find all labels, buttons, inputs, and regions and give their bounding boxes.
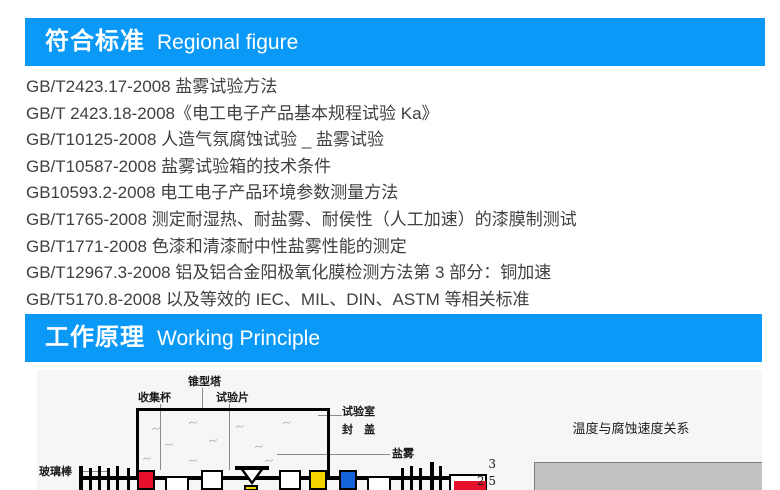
mist-mark: 〜 <box>188 419 199 430</box>
label-cone-tower: 锥型塔 <box>188 376 221 387</box>
component-box <box>367 476 391 490</box>
rod-bar <box>401 468 404 490</box>
glass-rod-bar <box>127 468 130 490</box>
standard-item: GB/T 2423.18-2008《电工电子产品基本规程试验 Ka》 <box>26 101 756 128</box>
label-test-piece: 试验片 <box>216 392 249 403</box>
standards-list: GB/T2423.17-2008 盐雾试验方法 GB/T 2423.18-200… <box>26 74 756 313</box>
component-yellow <box>309 470 327 490</box>
chart-ytick: 2.5 <box>476 475 496 487</box>
glass-rod-bar <box>98 466 101 490</box>
rod-bar <box>410 466 413 490</box>
standard-item: GB/T1765-2008 测定耐湿热、耐盐雾、耐侯性（人工加速）的漆膜制测试 <box>26 207 756 234</box>
mist-mark: 〜 <box>208 437 219 448</box>
label-test-chamber: 试验室 <box>342 406 375 417</box>
leader-line-cone-tower <box>202 388 203 410</box>
mist-mark: 〜 <box>142 455 153 466</box>
standard-item: GB/T10125-2008 人造气氛腐蚀试验 _ 盐雾试验 <box>26 127 756 154</box>
temperature-corrosion-chart: 温度与腐蚀速度关系 3 2.5 <box>500 370 762 490</box>
rod-bar <box>430 462 434 490</box>
component-red <box>137 470 155 490</box>
section-title-cn: 工作原理 <box>45 326 145 350</box>
standard-item: GB10593.2-2008 电工电子产品环境参数测量方法 <box>26 180 756 207</box>
mist-mark: 〜 <box>164 441 175 452</box>
salt-spray-chamber-schematic: 锥型塔 收集杯 试验片 试验室 封 盖 盐雾 玻璃棒 〜 〜 〜 〜 〜 〜 <box>37 370 467 490</box>
section-title-en: Regional figure <box>157 32 298 53</box>
rod-bar <box>439 466 442 490</box>
mist-mark: 〜 <box>235 423 246 434</box>
chart-ytick: 3 <box>476 458 496 470</box>
section-title-cn: 符合标准 <box>45 30 145 54</box>
cone-tower-funnel-inner <box>244 470 260 481</box>
cone-tower-funnel <box>241 470 263 485</box>
mist-mark: 〜 <box>282 419 293 430</box>
section-header-working-principle: 工作原理 Working Principle <box>25 314 762 362</box>
working-principle-figure: 锥型塔 收集杯 试验片 试验室 封 盖 盐雾 玻璃棒 〜 〜 〜 〜 〜 〜 <box>37 370 762 490</box>
mist-mark: 〜 <box>254 443 265 454</box>
chart-title: 温度与腐蚀速度关系 <box>500 418 762 437</box>
glass-rod-bar <box>89 468 92 490</box>
component-blue <box>339 470 357 490</box>
section-title-en: Working Principle <box>157 328 320 349</box>
section-header-regional-figure: 符合标准 Regional figure <box>25 18 765 66</box>
standard-item: GB/T10587-2008 盐雾试验箱的技术条件 <box>26 154 756 181</box>
label-salt-spray: 盐雾 <box>392 448 414 459</box>
mist-mark: 〜 <box>151 425 162 436</box>
label-cover: 封 盖 <box>342 424 375 435</box>
component-box <box>201 470 223 490</box>
glass-rod-bar <box>116 466 119 490</box>
cone-tower-base <box>244 485 258 490</box>
glass-rod-bar <box>107 468 110 490</box>
rod-bar <box>419 468 422 490</box>
standard-item: GB/T5170.8-2008 以及等效的 IEC、MIL、DIN、ASTM 等… <box>26 287 756 314</box>
standard-item: GB/T2423.17-2008 盐雾试验方法 <box>26 74 756 101</box>
standard-item: GB/T1771-2008 色漆和清漆耐中性盐雾性能的测定 <box>26 234 756 261</box>
component-box <box>279 470 301 490</box>
component-box <box>165 476 189 490</box>
label-collect-cup: 收集杯 <box>138 392 171 403</box>
glass-rod-bar <box>79 466 83 490</box>
standard-item: GB/T12967.3-2008 铝及铝合金阳极氧化膜检测方法第 3 部分：铜加… <box>26 260 756 287</box>
piping-row <box>57 466 467 490</box>
product-detail-page: 符合标准 Regional figure GB/T2423.17-2008 盐雾… <box>0 0 780 490</box>
chart-plot-area <box>534 462 762 490</box>
